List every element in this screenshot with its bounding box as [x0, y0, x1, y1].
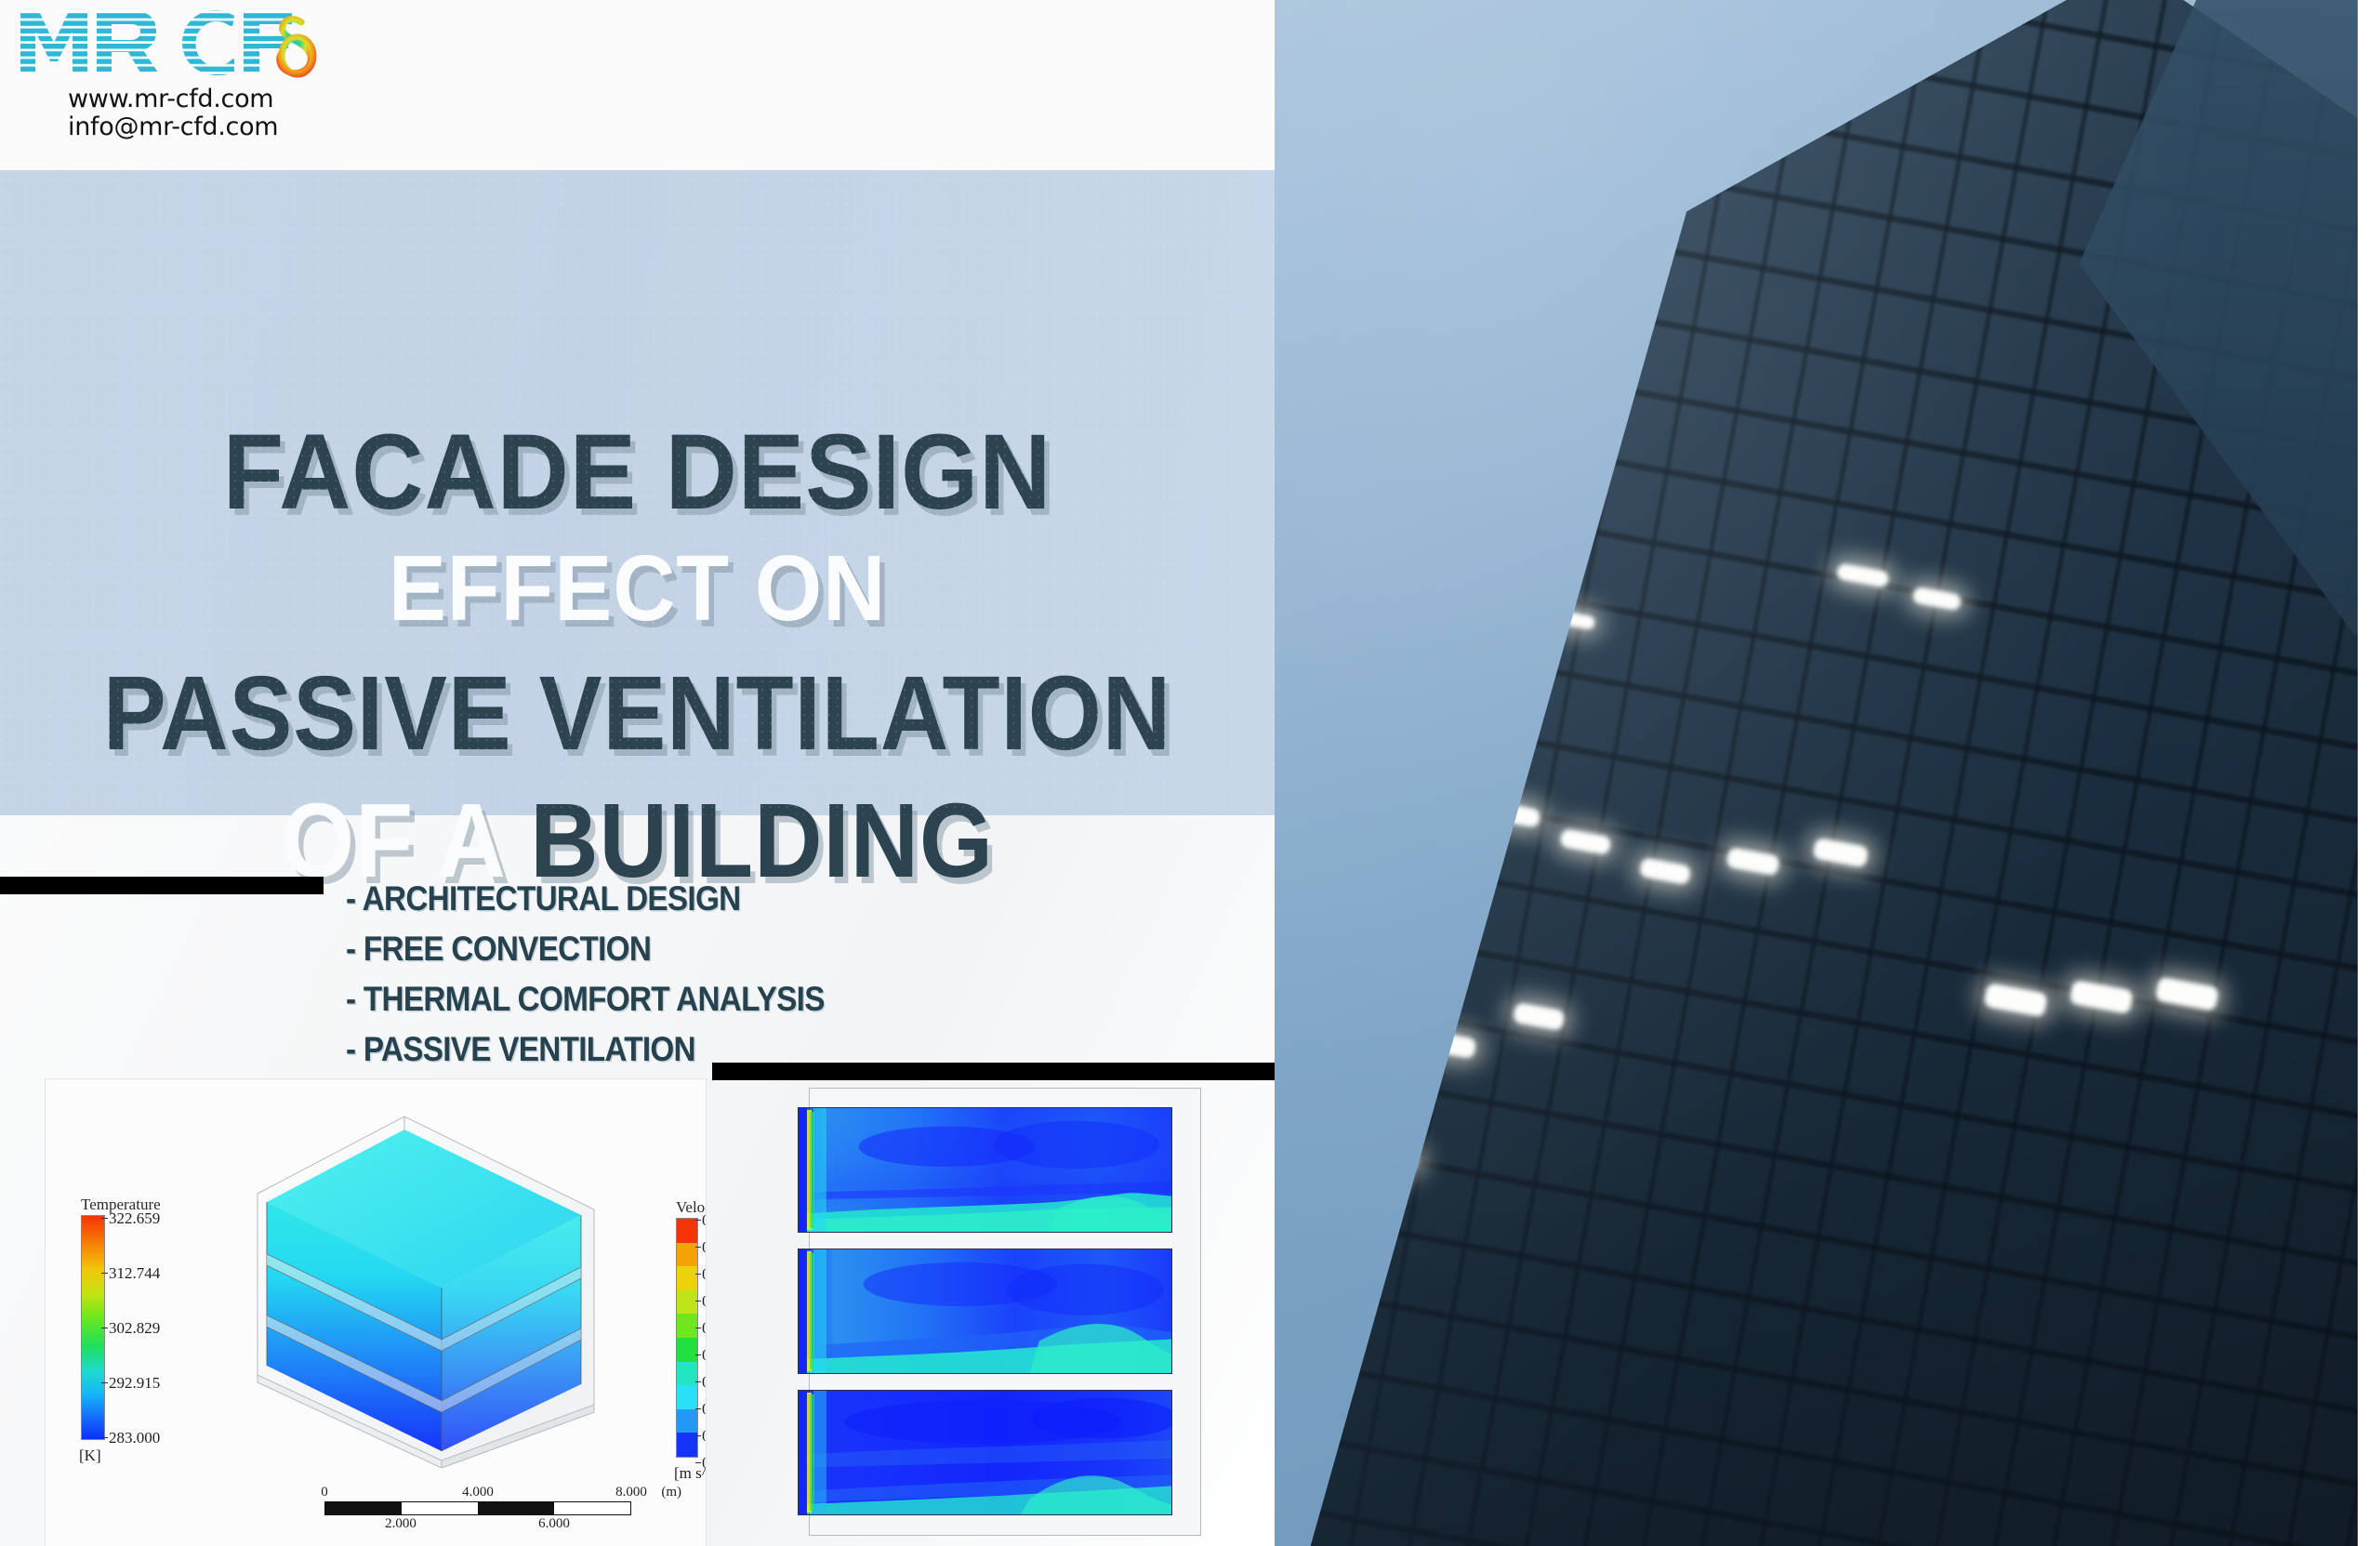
list-item: - PASSIVE VENTILATION: [346, 1032, 1015, 1066]
logo-icon: [17, 6, 324, 80]
photo-right-margin: [2358, 0, 2380, 1546]
velocity-slice-floor-1: [798, 1390, 1172, 1515]
velocity-colorbar-gradient: [676, 1218, 698, 1458]
velocity-tick: 0.085: [702, 1400, 707, 1419]
list-item: - THERMAL COMFORT ANALYSIS: [346, 982, 1015, 1016]
title-band: FACADE DESIGN EFFECT ON PASSIVE VENTILAT…: [0, 170, 1275, 815]
photo-inner: [1275, 0, 2380, 1546]
velocity-tick: 0.170: [702, 1346, 707, 1365]
rule-top-left: [0, 877, 324, 894]
temperature-tick: 312.744: [109, 1264, 160, 1283]
contact-email[interactable]: info@mr-cfd.com: [68, 113, 278, 141]
title-line-2: EFFECT ON: [45, 542, 1230, 635]
velocity-tick: 0.127: [702, 1373, 707, 1392]
velocity-tick: 0.255: [702, 1292, 707, 1311]
temperature-tick: 283.000: [109, 1429, 160, 1447]
list-item: - ARCHITECTURAL DESIGN: [346, 881, 1015, 916]
temperature-tick: 292.915: [109, 1374, 160, 1393]
scale-bar: 0 4.000 8.000 (m) 2.000 6.000: [324, 1485, 641, 1532]
temperature-tick: 302.829: [109, 1319, 160, 1338]
photo-vignette: [1275, 0, 2380, 1546]
left-content-panel: www.mr-cfd.com info@mr-cfd.com FACADE DE…: [0, 0, 1275, 1546]
scale-bar-track: [324, 1501, 631, 1515]
scale-label: 6.000: [538, 1516, 570, 1532]
velocity-slices-figure: [809, 1088, 1201, 1536]
velocity-colorbar: Velocity 0.382 0.340 0.297 0.255 0.212 0…: [676, 1198, 707, 1219]
topic-list: - ARCHITECTURAL DESIGN - FREE CONVECTION…: [346, 881, 1090, 1082]
temperature-colorbar: Temperature 322.659 312.744 302.829 292.…: [81, 1196, 220, 1216]
logo-delta-symbol: [280, 20, 313, 74]
velocity-tick: 0.297: [702, 1265, 707, 1284]
velocity-slice-floor-3: [798, 1107, 1172, 1233]
website-url[interactable]: www.mr-cfd.com: [68, 86, 273, 113]
skyscraper-photo: [1275, 0, 2380, 1546]
scale-bar-upper-labels: 0 4.000 8.000 (m): [324, 1485, 641, 1500]
title-line-1: FACADE DESIGN: [45, 419, 1230, 526]
velocity-slice-floor-2: [798, 1249, 1172, 1374]
scale-bar-lower-labels: 2.000 6.000: [324, 1516, 641, 1532]
title-line-3: PASSIVE VENTILATION: [64, 661, 1211, 766]
list-item: - FREE CONVECTION: [346, 932, 1015, 966]
velocity-tick: 0.042: [702, 1427, 707, 1446]
scale-label: 2.000: [385, 1516, 416, 1532]
mr-cfd-logo[interactable]: www.mr-cfd.com info@mr-cfd.com: [17, 6, 324, 80]
temperature-tick: 322.659: [109, 1209, 160, 1228]
velocity-unit-label: [m s^-1]: [674, 1464, 707, 1483]
building-3d-contour: [222, 1105, 622, 1468]
cfd-temperature-figure: Temperature 322.659 312.744 302.829 292.…: [45, 1078, 707, 1546]
scale-label: 4.000: [462, 1485, 494, 1500]
scale-unit-label: (m): [661, 1485, 681, 1500]
velocity-tick: 0.382: [702, 1211, 707, 1230]
velocity-tick: 0.340: [702, 1238, 707, 1257]
velocity-tick: 0.212: [702, 1319, 707, 1338]
scale-label: 8.000: [615, 1485, 647, 1500]
temperature-unit-label: [K]: [79, 1447, 101, 1465]
poster-canvas: www.mr-cfd.com info@mr-cfd.com FACADE DE…: [0, 0, 2380, 1546]
scale-label: 0: [321, 1485, 328, 1500]
brand-header: www.mr-cfd.com info@mr-cfd.com: [0, 0, 1275, 170]
